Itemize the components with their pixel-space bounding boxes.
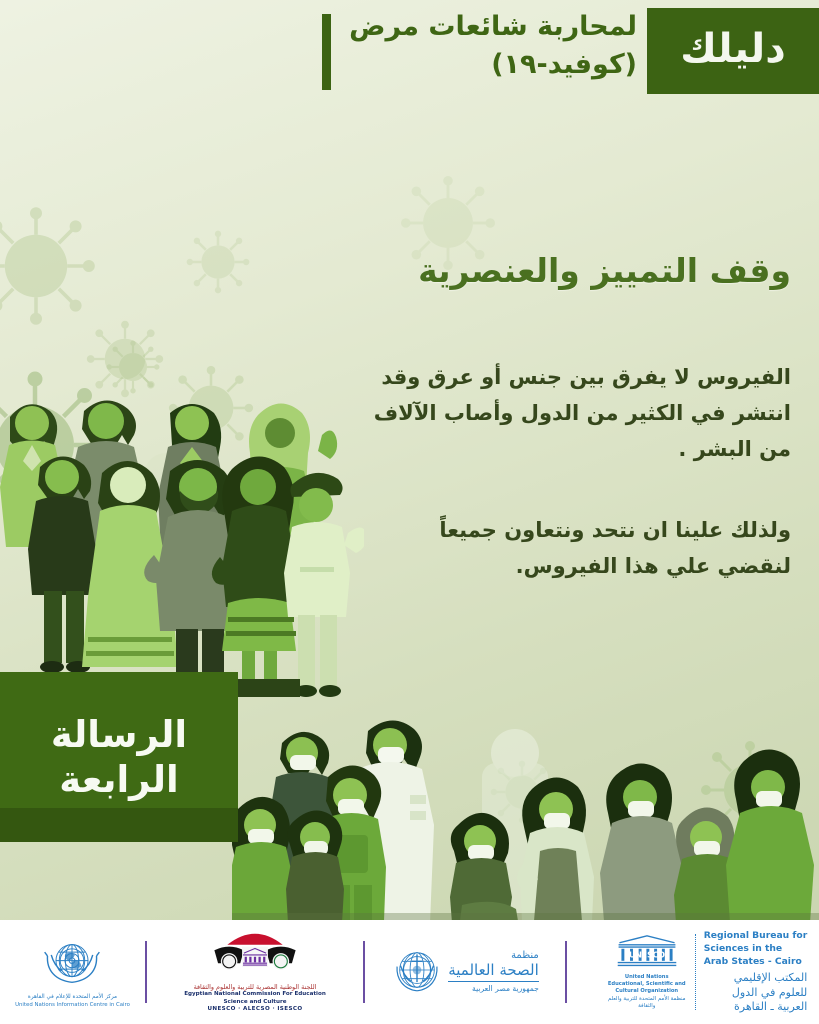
- who-name-line-2: الصحة العالمية: [448, 962, 539, 980]
- body-paragraph-1: الفيروس لا يفرق بين جنس أو عرق وقد انتشر…: [361, 359, 791, 467]
- footer-divider: [363, 941, 365, 1003]
- unesco-title-en-line-1: Regional Bureau for: [704, 929, 808, 942]
- unesco-wordmark: UNESCO: [629, 951, 665, 960]
- coronavirus-particle-icon: [0, 206, 96, 326]
- logo-unesco: UNESCO United Nations Educational, Scien…: [567, 930, 819, 1014]
- unesco-caption-en: United Nations Educational, Scientific a…: [607, 974, 687, 995]
- footer-logo-bar: UNESCO United Nations Educational, Scien…: [0, 920, 819, 1024]
- header-accent-bar: [322, 14, 331, 90]
- dotted-divider: [695, 934, 696, 1010]
- unesco-temple-icon: UNESCO United Nations Educational, Scien…: [607, 933, 687, 1010]
- unesco-title-en-line-3: Arab States - Cairo: [704, 955, 808, 968]
- message-badge-line-2: الرابعة: [59, 757, 179, 802]
- poster-canvas: دليلك لمحاربة شائعات مرض (كوفيد-١٩): [0, 0, 819, 1024]
- unic-caption-ar: مركز الأمم المتحدة للإعلام في القاهرة: [15, 994, 130, 1002]
- message-number-badge: الرسالة الرابعة: [0, 672, 238, 842]
- main-text-column: وقف التمييز والعنصرية الفيروس لا يفرق بي…: [361, 250, 791, 584]
- egyptian-national-commission-emblem-icon: [184, 930, 326, 982]
- unic-caption-en: United Nations Information Centre in Cai…: [15, 1002, 130, 1009]
- footer-divider: [565, 941, 567, 1003]
- egyptian-commission-caption-en-1: Egyptian National Commission For Educati…: [184, 991, 326, 998]
- unesco-title-ar-line-2: للعلوم في الدول: [704, 986, 808, 1001]
- egyptian-commission-caption-en-2: Science and Culture: [184, 999, 326, 1006]
- logo-who: منظمة الصحة العالمية جمهورية مصر العربية: [365, 930, 565, 1014]
- who-subtitle: جمهورية مصر العربية: [448, 981, 539, 994]
- who-emblem-icon: [391, 944, 443, 1000]
- unesco-caption-ar: منظمة الأمم المتحدة للتربية والعلم والثق…: [607, 996, 687, 1011]
- unesco-title-ar-line-3: العربية ـ القاهرة: [704, 1000, 808, 1015]
- footer-divider: [145, 941, 147, 1003]
- page-title: وقف التمييز والعنصرية: [361, 250, 791, 291]
- unesco-title-en-line-2: Sciences in the: [704, 942, 808, 955]
- logo-un-information-centre: مركز الأمم المتحدة للإعلام في القاهرة Un…: [0, 930, 145, 1014]
- coronavirus-particle-icon: [186, 230, 250, 294]
- unesco-title-ar-line-1: المكتب الإقليمي: [704, 971, 808, 986]
- body-paragraph-2: ولذلك علينا ان نتحد ونتعاون جميعاً لنقضي…: [361, 512, 791, 584]
- poster-header: دليلك لمحاربة شائعات مرض (كوفيد-١٩): [0, 0, 819, 110]
- masked-crowd-illustration: [232, 715, 819, 920]
- message-badge-line-1: الرسالة: [51, 712, 187, 757]
- united-nations-emblem-icon: [15, 935, 130, 994]
- egyptian-commission-caption-ar: اللجنة الوطنية المصرية للتربية والعلوم و…: [184, 983, 326, 991]
- header-subtitle: لمحاربة شائعات مرض (كوفيد-١٩): [337, 8, 637, 85]
- header-title-badge: دليلك: [647, 8, 819, 94]
- diverse-people-group-illustration: [0, 375, 364, 700]
- header-title-label: دليلك: [680, 29, 785, 74]
- egyptian-commission-affiliations: UNESCO · ALECSO · ISESCO: [184, 1006, 326, 1014]
- who-name-line-1: منظمة: [448, 950, 539, 962]
- logo-egyptian-national-commission: اللجنة الوطنية المصرية للتربية والعلوم و…: [147, 930, 363, 1014]
